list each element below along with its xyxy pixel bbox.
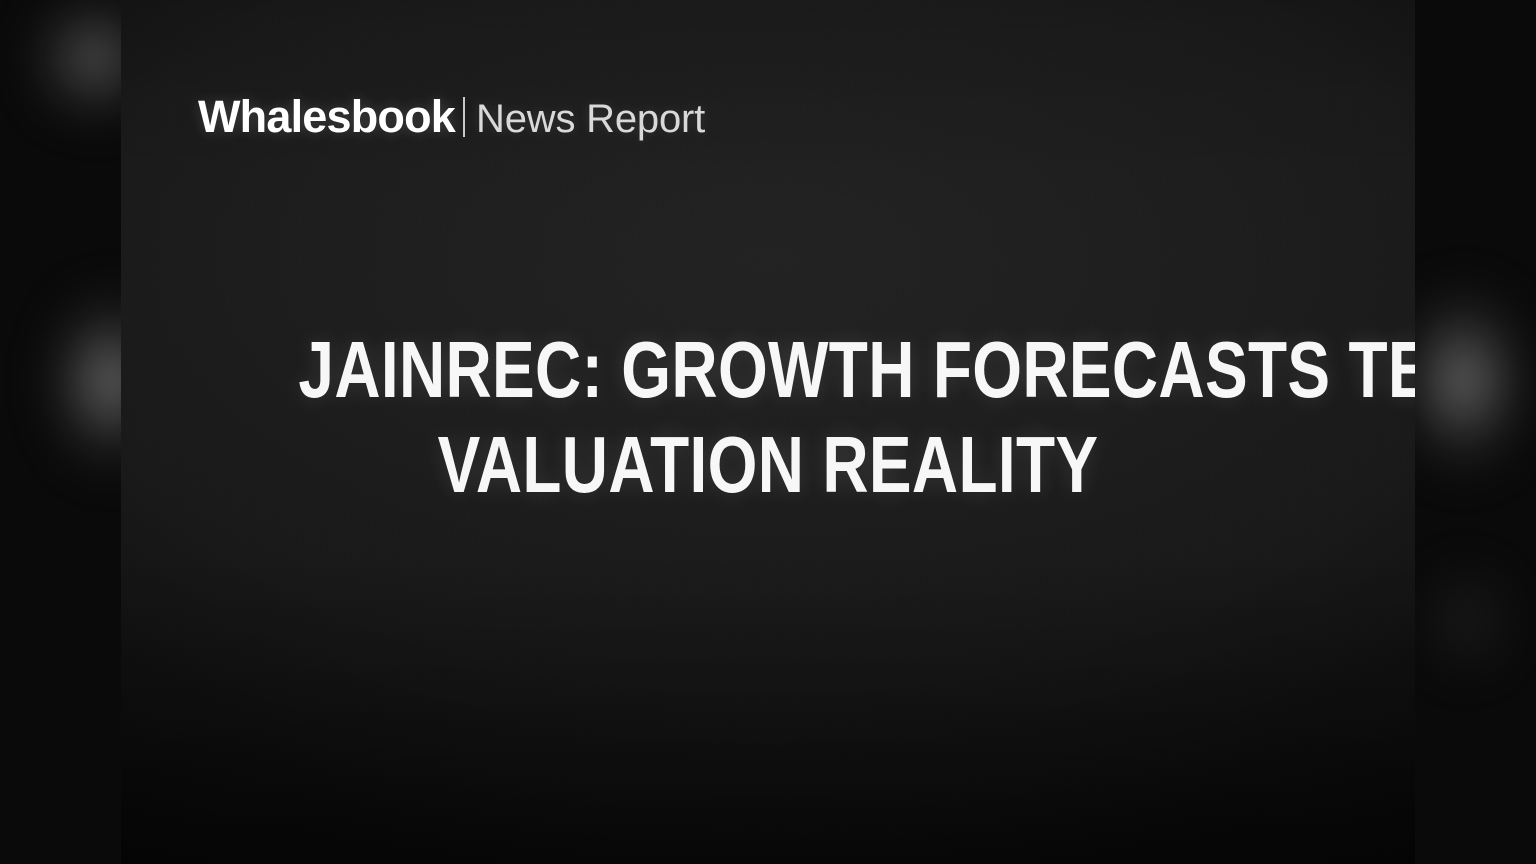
brand-divider — [463, 97, 465, 137]
brand-tagline: News Report — [476, 99, 705, 139]
left-mid-glow — [48, 286, 121, 476]
headline-line-2: VALUATION REALITY — [298, 417, 1237, 512]
brand-name: Whalesbook — [198, 94, 455, 139]
left-top-glow — [30, 0, 121, 122]
right-mid-glow — [1415, 282, 1527, 478]
right-low-glow — [1419, 560, 1515, 680]
left-letterbox-strip — [0, 0, 121, 864]
right-letterbox-strip — [1415, 0, 1536, 864]
headline: JAINREC: GROWTH FORECASTS TESTED BY VALU… — [181, 322, 1355, 512]
news-report-card: Whalesbook News Report JAINREC: GROWTH F… — [0, 0, 1536, 864]
brand-lockup[interactable]: Whalesbook News Report — [198, 92, 705, 139]
main-panel: Whalesbook News Report JAINREC: GROWTH F… — [121, 0, 1415, 864]
headline-line-1: JAINREC: GROWTH FORECASTS TESTED BY — [298, 322, 1237, 417]
